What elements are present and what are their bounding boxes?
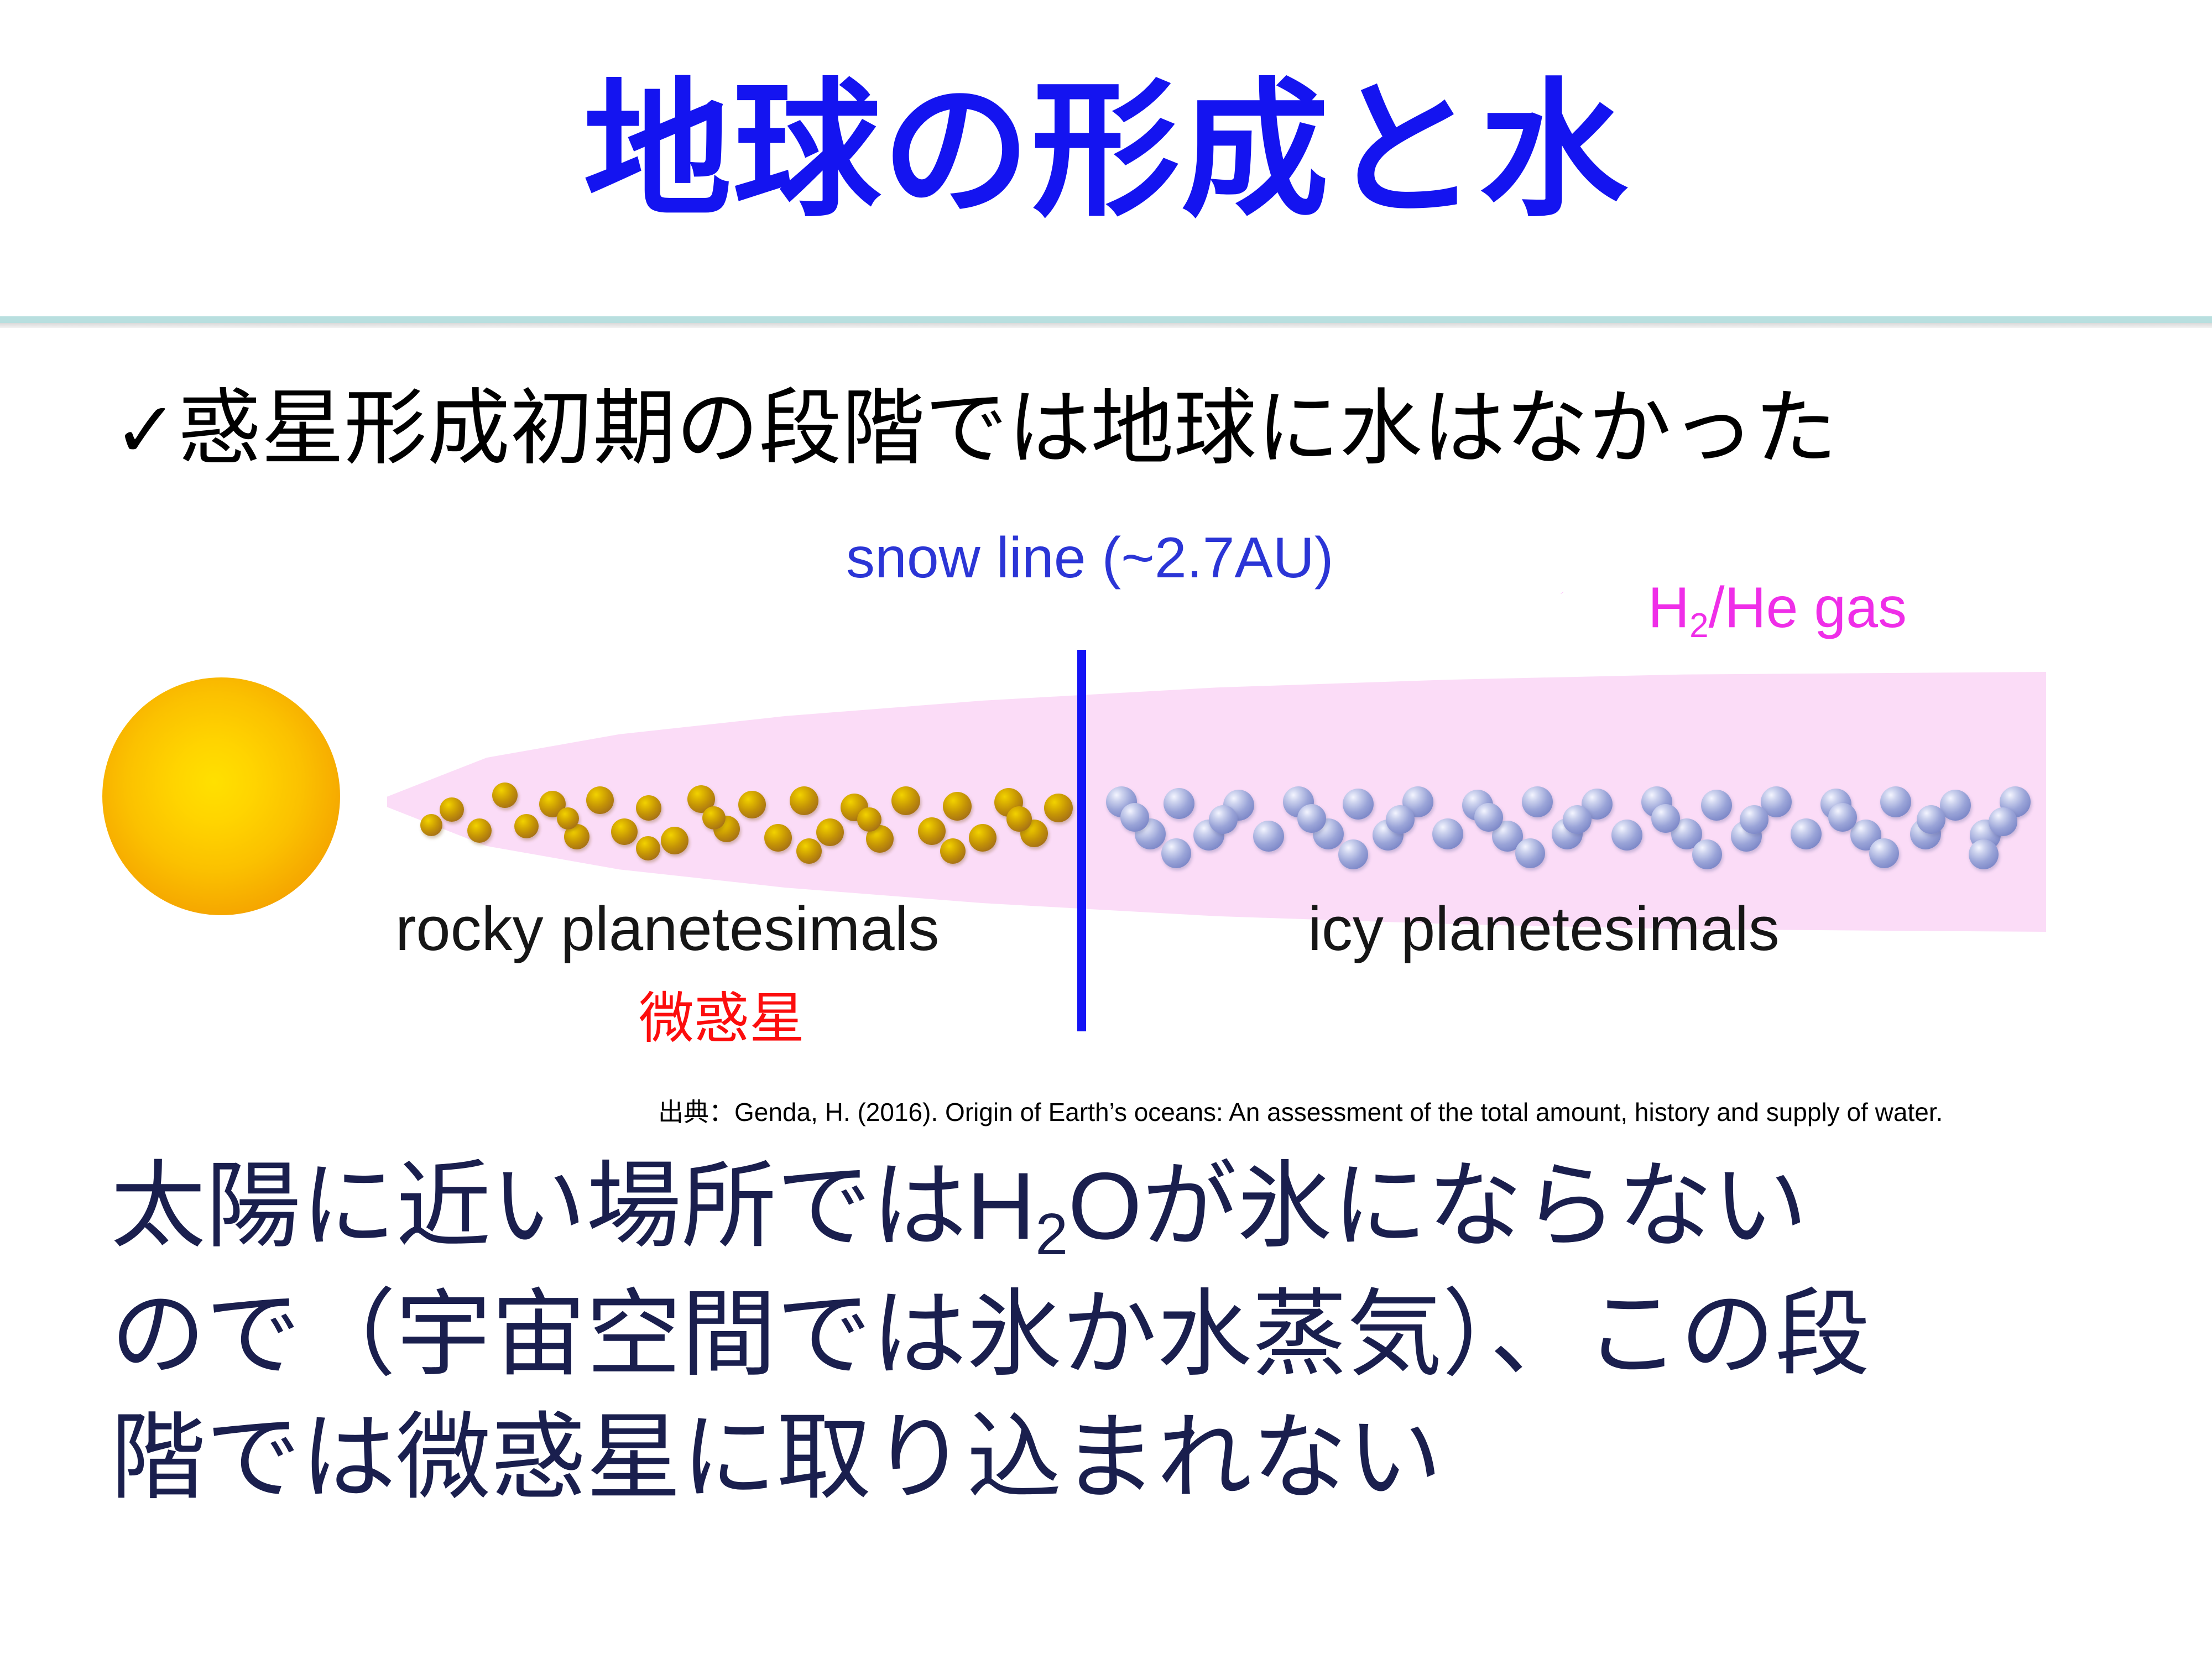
slide-root: 地球の形成と水 ✓惑星形成初期の段階では地球に水はなかった: [0, 0, 2212, 1659]
microplanetesimal-label-ja: 微惑星: [639, 973, 805, 1053]
gas-label-subscript: 2: [1689, 607, 1708, 645]
gas-label-h: H: [1648, 576, 1689, 640]
snow-line-label: snow line (~2.7AU): [846, 525, 1334, 591]
page-title: 地球の形成と水: [0, 72, 2212, 229]
bottom-line-1-subscript: 2: [1035, 1202, 1068, 1267]
gas-leader-line: [1504, 592, 1620, 594]
check-icon: ✓: [113, 387, 178, 473]
rocky-planetesimals-label: rocky planetesimals: [395, 893, 940, 964]
sun-icon: [102, 677, 340, 915]
title-divider-shadow: [0, 323, 2212, 328]
gas-label: H2/He gas: [1648, 575, 1907, 645]
title-divider: [0, 316, 2212, 323]
icy-planetesimals-label: icy planetesimals: [1308, 893, 1780, 964]
bottom-line-1b: Oが氷にならない: [1068, 1153, 1808, 1259]
snow-line: [1077, 650, 1086, 1031]
gas-label-rest: /He gas: [1709, 576, 1907, 640]
bottom-line-1: 太陽に近い場所ではH2Oが氷にならない: [111, 1145, 2190, 1273]
bottom-paragraph: 太陽に近い場所ではH2Oが氷にならない ので（宇宙空間では氷か水蒸気）、この段 …: [111, 1145, 2190, 1520]
citation-text: 出典：Genda, H. (2016). Origin of Earth’s o…: [658, 1092, 1943, 1129]
bullet-text: 惑星形成初期の段階では地球に水はなかった: [178, 382, 1837, 474]
bottom-line-1a: 太陽に近い場所ではH: [111, 1153, 1035, 1259]
bottom-line-2: ので（宇宙空間では氷か水蒸気）、この段: [111, 1273, 2190, 1397]
bullet-line: ✓惑星形成初期の段階では地球に水はなかった: [113, 379, 2159, 477]
bottom-line-3: 階では微惑星に取り込まれない: [111, 1396, 2190, 1520]
protoplanetary-disc-diagram: snow line (~2.7AU) H2/He gas rocky plane…: [0, 531, 2212, 1139]
